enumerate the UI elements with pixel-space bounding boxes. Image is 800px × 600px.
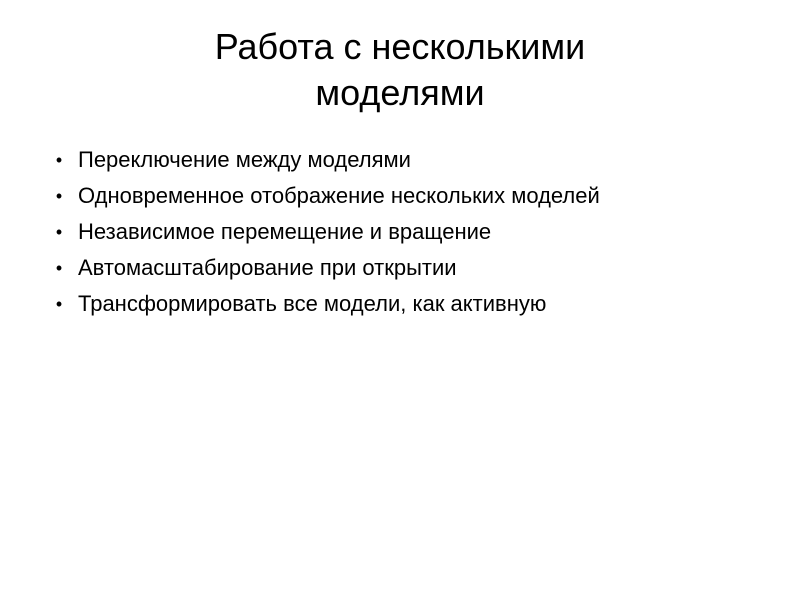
slide: Работа с несколькими моделями • Переключ…	[0, 0, 800, 600]
slide-title-line-1: Работа с несколькими	[215, 26, 586, 67]
bullet-list: • Переключение между моделями • Одноврем…	[44, 142, 764, 322]
list-item: • Автомасштабирование при открытии	[44, 250, 764, 286]
bullet-dot-icon: •	[51, 178, 67, 214]
bullet-dot-icon: •	[51, 142, 67, 178]
list-item-label: Независимое перемещение и вращение	[78, 214, 491, 250]
slide-title: Работа с несколькими моделями	[60, 24, 740, 116]
slide-body: • Переключение между моделями • Одноврем…	[44, 142, 764, 322]
list-item: • Независимое перемещение и вращение	[44, 214, 764, 250]
list-item-label: Одновременное отображение нескольких мод…	[78, 178, 600, 214]
bullet-dot-icon: •	[51, 214, 67, 250]
list-item-label: Трансформировать все модели, как активну…	[78, 286, 546, 322]
list-item-label: Переключение между моделями	[78, 142, 411, 178]
list-item: • Переключение между моделями	[44, 142, 764, 178]
list-item: • Одновременное отображение нескольких м…	[44, 178, 764, 214]
bullet-dot-icon: •	[51, 286, 67, 322]
slide-title-line-2: моделями	[315, 72, 484, 113]
list-item-label: Автомасштабирование при открытии	[78, 250, 457, 286]
bullet-dot-icon: •	[51, 250, 67, 286]
list-item: • Трансформировать все модели, как актив…	[44, 286, 764, 322]
